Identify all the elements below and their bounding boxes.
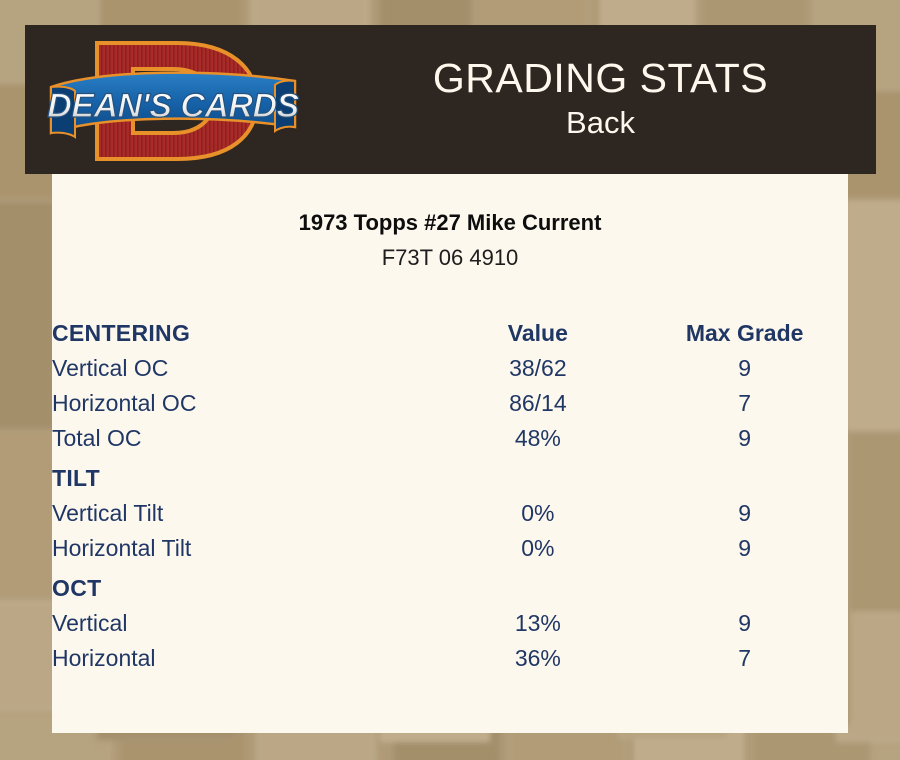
stat-value: 86/14: [434, 382, 641, 417]
stat-label: Vertical Tilt: [52, 492, 434, 527]
column-header-value: [434, 562, 641, 602]
page-subtitle: Back: [566, 104, 635, 141]
table-row: Horizontal36%7: [52, 637, 848, 672]
stat-label: Horizontal: [52, 637, 434, 672]
table-row: Horizontal Tilt0%9: [52, 527, 848, 562]
stat-value: 0%: [434, 527, 641, 562]
stat-value: 13%: [434, 602, 641, 637]
card-title: 1973 Topps #27 Mike Current: [52, 210, 848, 236]
stat-max-grade: 9: [641, 527, 848, 562]
column-header-max-grade: [641, 452, 848, 492]
stat-label: Horizontal Tilt: [52, 527, 434, 562]
section-title-tilt: TILT: [52, 452, 434, 492]
stat-label: Vertical OC: [52, 347, 434, 382]
table-row: Vertical13%9: [52, 602, 848, 637]
stat-max-grade: 9: [641, 492, 848, 527]
column-header-value: Value: [434, 307, 641, 347]
stat-value: 0%: [434, 492, 641, 527]
stat-max-grade: 7: [641, 382, 848, 417]
table-row: Horizontal OC86/147: [52, 382, 848, 417]
stat-value: 38/62: [434, 347, 641, 382]
column-header-max-grade: [641, 562, 848, 602]
header-bar: DEAN'S CARDS GRADING STATS Back: [25, 25, 876, 174]
section-header-row: TILT: [52, 452, 848, 492]
section-title-centering: CENTERING: [52, 307, 434, 347]
logo-banner-text: DEAN'S CARDS: [47, 87, 299, 125]
section-header-row: OCT: [52, 562, 848, 602]
stat-max-grade: 9: [641, 602, 848, 637]
logo-banner: DEAN'S CARDS: [47, 73, 299, 137]
section-title-oct: OCT: [52, 562, 434, 602]
stat-value: 36%: [434, 637, 641, 672]
table-row: Vertical OC38/629: [52, 347, 848, 382]
column-header-value: [434, 452, 641, 492]
card-id: F73T 06 4910: [52, 245, 848, 271]
table-row: Vertical Tilt0%9: [52, 492, 848, 527]
section-header-row: CENTERINGValueMax Grade: [52, 307, 848, 347]
table-row: Total OC48%9: [52, 417, 848, 452]
stat-value: 48%: [434, 417, 641, 452]
stat-max-grade: 9: [641, 417, 848, 452]
stat-label: Total OC: [52, 417, 434, 452]
deans-cards-logo: DEAN'S CARDS: [45, 29, 305, 169]
stat-max-grade: 7: [641, 637, 848, 672]
grading-stats-table: CENTERINGValueMax GradeVertical OC38/629…: [52, 307, 848, 672]
stat-max-grade: 9: [641, 347, 848, 382]
stat-label: Vertical: [52, 602, 434, 637]
content-panel: 1973 Topps #27 Mike Current F73T 06 4910…: [52, 174, 848, 733]
stat-label: Horizontal OC: [52, 382, 434, 417]
column-header-max-grade: Max Grade: [641, 307, 848, 347]
page-title: GRADING STATS: [433, 57, 768, 100]
